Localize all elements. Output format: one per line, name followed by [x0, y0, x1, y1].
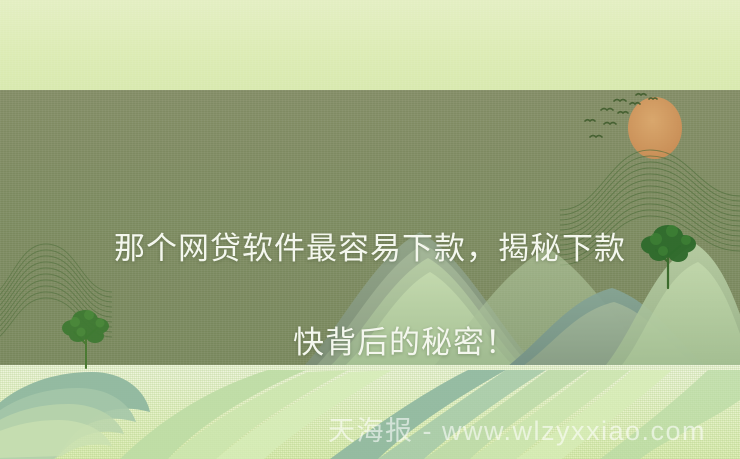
headline-line-2: 快背后的秘密！	[0, 319, 740, 366]
watermark-text: 天海报 - www.wlzyxxiao.com	[328, 409, 706, 448]
poster-headline: 那个网贷软件最容易下款，揭秘下款 快背后的秘密！	[0, 178, 740, 413]
sun-icon	[628, 97, 682, 159]
headline-line-1: 那个网贷软件最容易下款，揭秘下款	[0, 225, 740, 272]
poster-canvas: 那个网贷软件最容易下款，揭秘下款 快背后的秘密！ 天海报 - www.wlzyx…	[0, 0, 740, 459]
